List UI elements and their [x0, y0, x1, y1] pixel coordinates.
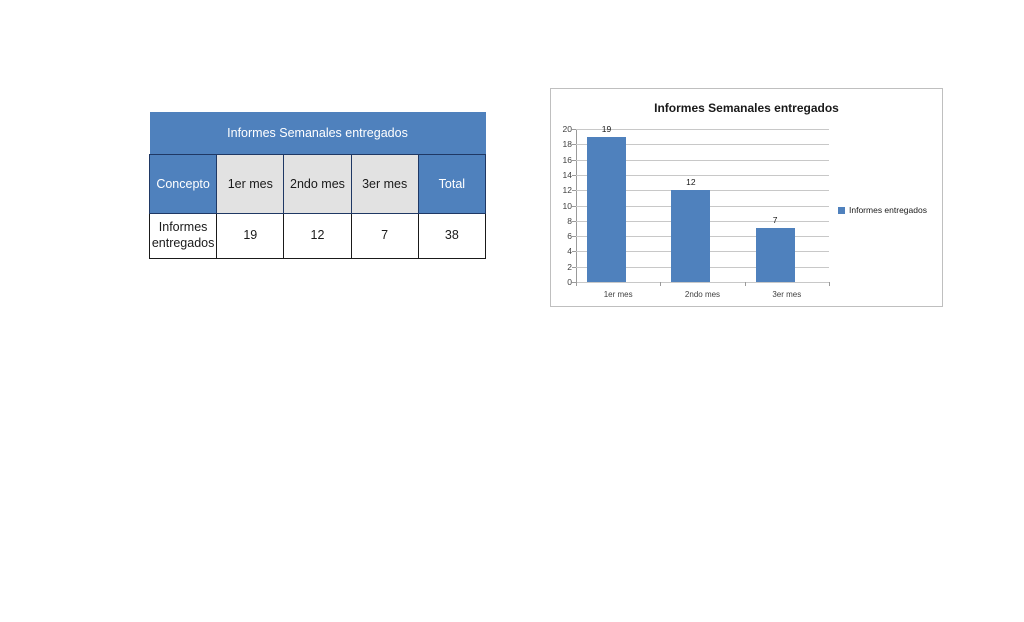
y-axis-tick-label: 4 — [552, 246, 572, 256]
legend-label: Informes entregados — [849, 205, 927, 215]
cell-mes-2: 12 — [284, 214, 351, 259]
x-axis-tick-label-1: 1er mes — [576, 290, 660, 299]
y-axis-tick-label: 10 — [552, 201, 572, 211]
y-axis-tick-label: 12 — [552, 185, 572, 195]
column-header-total: Total — [418, 155, 485, 214]
cell-concepto: Informes entregados — [150, 214, 217, 259]
x-axis-tick-label-2: 2ndo mes — [660, 290, 744, 299]
y-axis-tick-label: 20 — [552, 124, 572, 134]
informes-table: Informes Semanales entregados Concepto 1… — [149, 112, 486, 259]
x-axis-tick-mark — [576, 282, 577, 286]
bar-value-label-1: 19 — [577, 124, 636, 134]
x-axis-tick-label-3: 3er mes — [745, 290, 829, 299]
bar-3[interactable] — [756, 228, 795, 282]
column-header-mes-2: 2ndo mes — [284, 155, 351, 214]
bar-value-label-2: 12 — [661, 177, 720, 187]
bar-chart-panel: Informes Semanales entregados 2018161412… — [550, 88, 943, 307]
column-header-mes-3: 3er mes — [351, 155, 418, 214]
table-title-row: Informes Semanales entregados — [150, 112, 486, 155]
x-axis-tick-mark — [660, 282, 661, 286]
x-axis-tick-mark — [829, 282, 830, 286]
gridline — [576, 282, 829, 283]
bar-1[interactable] — [587, 137, 626, 282]
plot-area: 19127 — [576, 129, 829, 282]
column-header-mes-1: 1er mes — [217, 155, 284, 214]
legend-swatch-icon — [838, 207, 845, 214]
y-axis-tick-label: 8 — [552, 216, 572, 226]
y-axis-tick-label: 6 — [552, 231, 572, 241]
chart-legend: Informes entregados — [838, 205, 927, 215]
table-header-row: Concepto 1er mes 2ndo mes 3er mes Total — [150, 155, 486, 214]
chart-title: Informes Semanales entregados — [551, 101, 942, 115]
table-row: Informes entregados 19 12 7 38 — [150, 214, 486, 259]
y-axis-tick-label: 16 — [552, 155, 572, 165]
y-axis-tick-label: 14 — [552, 170, 572, 180]
column-header-concepto: Concepto — [150, 155, 217, 214]
y-axis-tick-label: 2 — [552, 262, 572, 272]
bar-value-label-3: 7 — [746, 215, 805, 225]
table-title: Informes Semanales entregados — [150, 112, 486, 155]
y-axis-labels: 20181614121086420 — [551, 129, 572, 282]
x-axis-tick-mark — [745, 282, 746, 286]
bar-2[interactable] — [671, 190, 710, 282]
y-axis-tick-label: 0 — [552, 277, 572, 287]
cell-mes-3: 7 — [351, 214, 418, 259]
y-axis-tick-label: 18 — [552, 139, 572, 149]
cell-total: 38 — [418, 214, 485, 259]
cell-mes-1: 19 — [217, 214, 284, 259]
